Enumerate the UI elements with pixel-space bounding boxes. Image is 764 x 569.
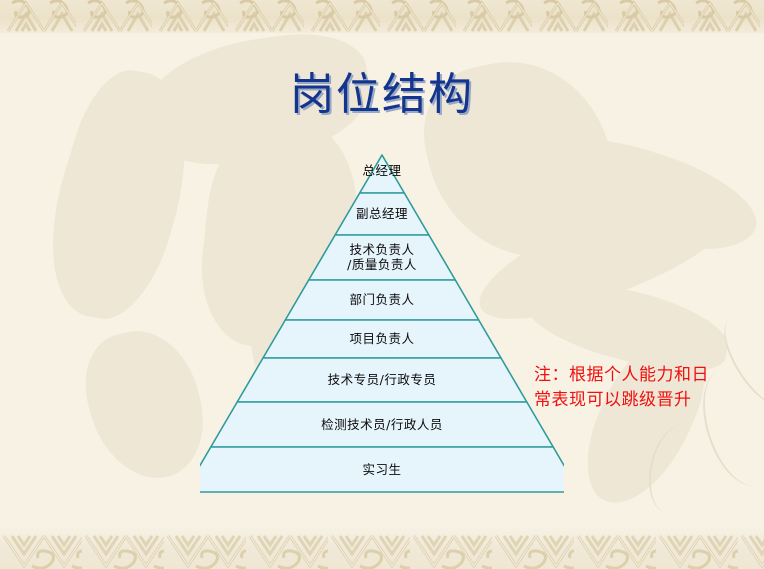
watermark-stroke xyxy=(73,319,216,491)
meander-pattern-bottom-icon xyxy=(0,528,764,569)
promotion-note: 注：根据个人能力和日 常表现可以跳级晋升 xyxy=(534,363,758,413)
pyramid-level-5 xyxy=(263,320,501,358)
pyramid-level-3 xyxy=(309,235,456,280)
meander-pattern-top-icon xyxy=(0,0,764,33)
page-title: 岗位结构 xyxy=(0,67,764,123)
pyramid-level-7 xyxy=(211,402,553,447)
pyramid-diagram: 总经理 副总经理 技术负责人 /质量负责人 部门负责人 项目负责人 技术专员/行… xyxy=(200,148,564,500)
pyramid-level-8 xyxy=(200,447,564,492)
plum-branch-decoration xyxy=(641,420,711,519)
watermark-stroke xyxy=(567,319,722,520)
pyramid-level-4 xyxy=(285,280,478,320)
pyramid-shape-icon xyxy=(200,148,564,500)
bottom-decorative-border xyxy=(0,528,764,569)
pyramid-level-2 xyxy=(335,193,429,235)
pyramid-level-6 xyxy=(237,358,527,402)
slide-canvas: 岗位结构 总经理 副总经理 xyxy=(0,0,764,569)
top-decorative-border xyxy=(0,0,764,33)
pyramid-level-1 xyxy=(360,155,405,193)
